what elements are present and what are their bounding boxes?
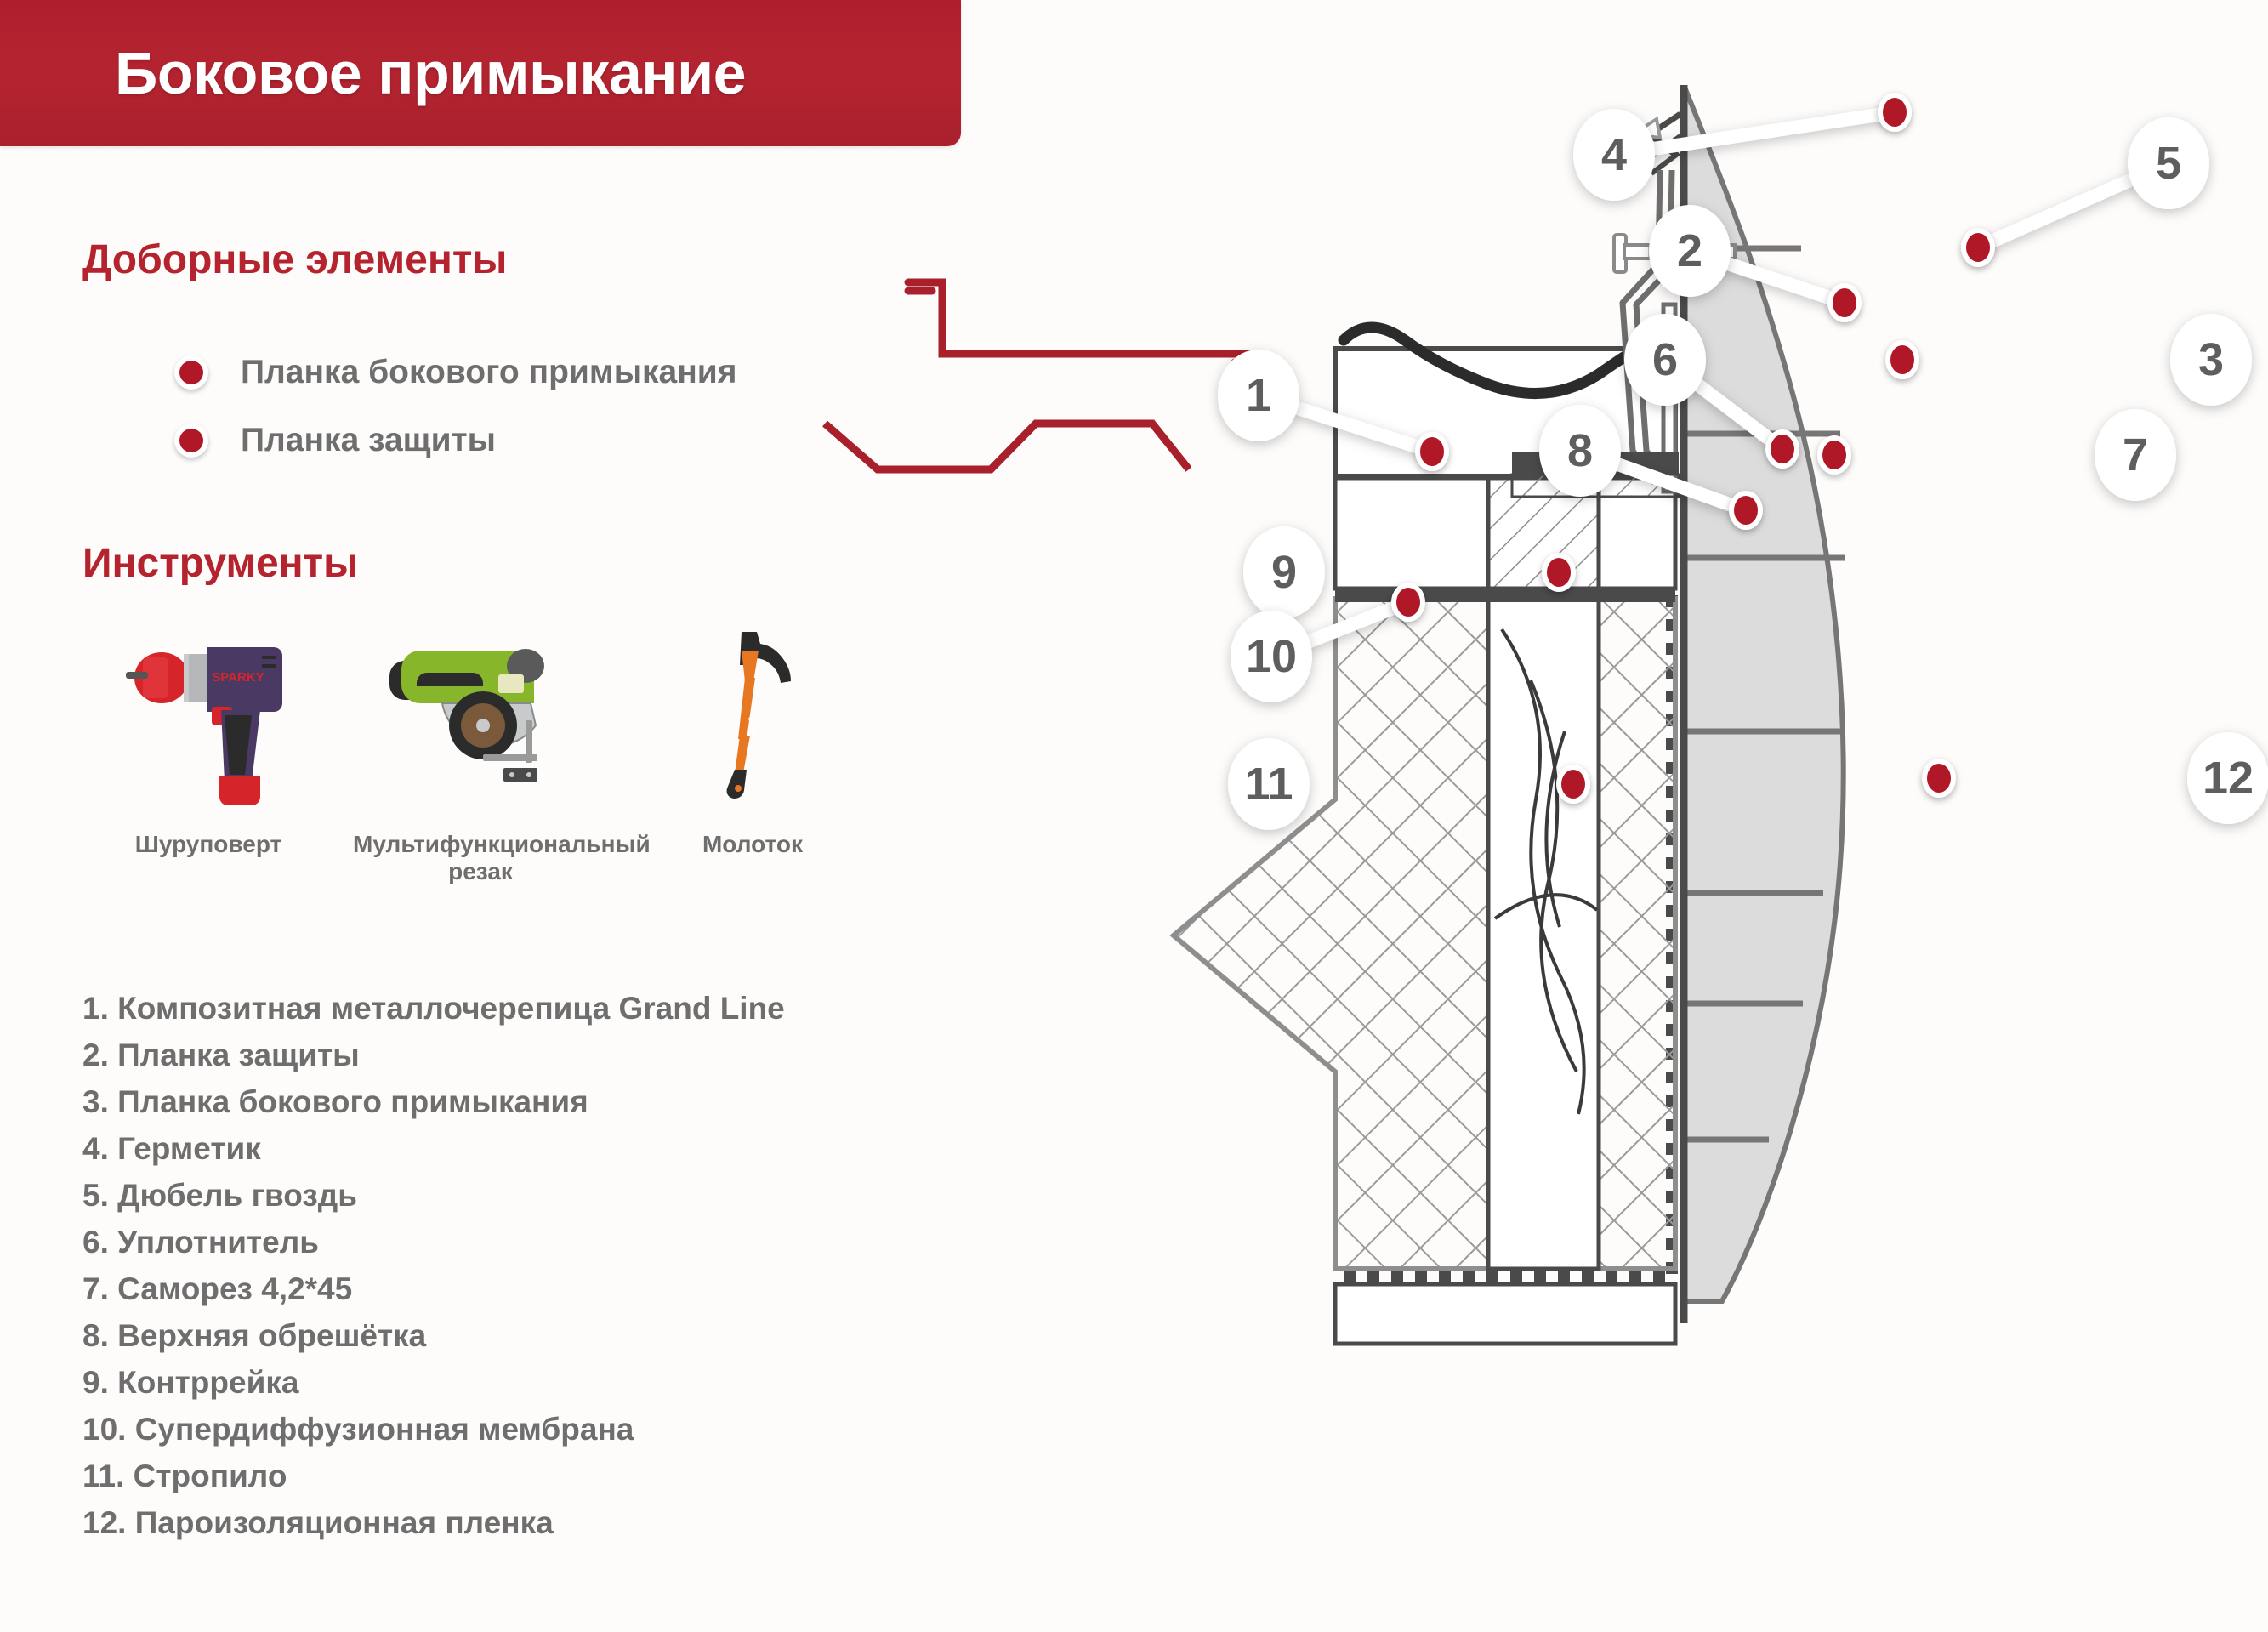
callout-number-label: 5 xyxy=(2156,138,2181,189)
list-item: Планка бокового примыкания xyxy=(174,338,872,407)
callout-dot-icon xyxy=(1561,770,1585,799)
callout-dot-icon xyxy=(1966,233,1990,262)
red-dot-icon xyxy=(174,424,208,458)
hammer-icon: Strike xyxy=(689,612,816,821)
svg-text:Strike: Strike xyxy=(746,716,759,740)
callout-dot-icon xyxy=(1547,558,1571,587)
callout-12[interactable]: 12 xyxy=(1922,732,2268,824)
page-title: Боковое примыкание xyxy=(115,39,746,107)
callout-number-label: 11 xyxy=(1244,759,1293,810)
callout-number-label: 6 xyxy=(1652,334,1678,385)
callout-number-label: 2 xyxy=(1677,225,1702,276)
callout-number-label: 9 xyxy=(1271,547,1297,598)
callout-dot-icon xyxy=(1734,496,1758,525)
callout-number-label: 10 xyxy=(1246,631,1297,682)
accessory-label: Планка бокового примыкания xyxy=(241,354,737,391)
circular-saw-icon xyxy=(374,612,587,821)
roof-side-abutment-diagram: 123456789101112 xyxy=(1089,85,2268,1632)
tool-caption: Шуруповерт xyxy=(135,831,282,858)
callout-dot-icon xyxy=(1833,288,1856,317)
list-item: 11. Стропило xyxy=(82,1453,1018,1499)
accessories-heading: Доборные элементы xyxy=(82,236,507,283)
cordless-drill-icon: SPARKY xyxy=(111,612,306,821)
tool-item: Мультифункциональный резак xyxy=(344,612,617,885)
callout-7[interactable]: 7 xyxy=(1817,409,2176,501)
callout-number-label: 1 xyxy=(1246,370,1271,421)
red-dot-icon xyxy=(174,355,208,390)
callout-4[interactable]: 4 xyxy=(1573,93,1912,201)
callout-leader-line xyxy=(1978,179,2131,247)
callout-5[interactable]: 5 xyxy=(1961,117,2209,267)
accessories-list: Планка бокового примыкания Планка защиты xyxy=(174,338,872,475)
callout-number-label: 3 xyxy=(2198,334,2224,385)
legend-list: 1. Композитная металлочерепица Grand Lin… xyxy=(82,985,1018,1546)
list-item: 5. Дюбель гвоздь xyxy=(82,1172,1018,1219)
tool-item: Strike Молоток xyxy=(617,612,889,858)
callout-dot-icon xyxy=(1890,345,1914,374)
accessory-label: Планка защиты xyxy=(241,422,496,459)
list-item: 7. Саморез 4,2*45 xyxy=(82,1265,1018,1312)
callout-3[interactable]: 3 xyxy=(1885,314,2252,406)
title-banner: Боковое примыкание xyxy=(0,0,961,146)
tools-row: SPARKY Шуруповерт xyxy=(72,612,889,885)
callout-dot-icon xyxy=(1883,98,1907,127)
callout-dot-icon xyxy=(1396,588,1420,617)
list-item: 6. Уплотнитель xyxy=(82,1219,1018,1265)
tool-caption: Мультифункциональный резак xyxy=(353,831,608,885)
callout-number-label: 4 xyxy=(1601,129,1627,180)
tool-caption: Молоток xyxy=(702,831,803,858)
callout-number-label: 12 xyxy=(2203,753,2254,804)
list-item: 8. Верхняя обрешётка xyxy=(82,1312,1018,1359)
callout-dot-icon xyxy=(1927,764,1951,793)
tool-item: SPARKY Шуруповерт xyxy=(72,612,344,858)
callout-dot-icon xyxy=(1822,441,1846,469)
list-item: 4. Герметик xyxy=(82,1125,1018,1172)
list-item: 3. Планка бокового примыкания xyxy=(82,1078,1018,1125)
list-item: 1. Композитная металлочерепица Grand Lin… xyxy=(82,985,1018,1032)
callout-number-label: 8 xyxy=(1567,425,1593,476)
list-item: 10. Супердиффузионная мембрана xyxy=(82,1406,1018,1453)
list-item: 9. Контррейка xyxy=(82,1359,1018,1406)
svg-text:SPARKY: SPARKY xyxy=(212,670,264,685)
list-item: 2. Планка защиты xyxy=(82,1032,1018,1078)
tools-heading: Инструменты xyxy=(82,540,358,587)
callout-number-label: 7 xyxy=(2123,429,2148,481)
callout-dot-icon xyxy=(1771,435,1794,463)
roof-buildup-section xyxy=(1174,587,1675,1344)
list-item: Планка защиты xyxy=(174,407,872,475)
callout-dot-icon xyxy=(1420,437,1444,466)
list-item: 12. Пароизоляционная пленка xyxy=(82,1499,1018,1546)
